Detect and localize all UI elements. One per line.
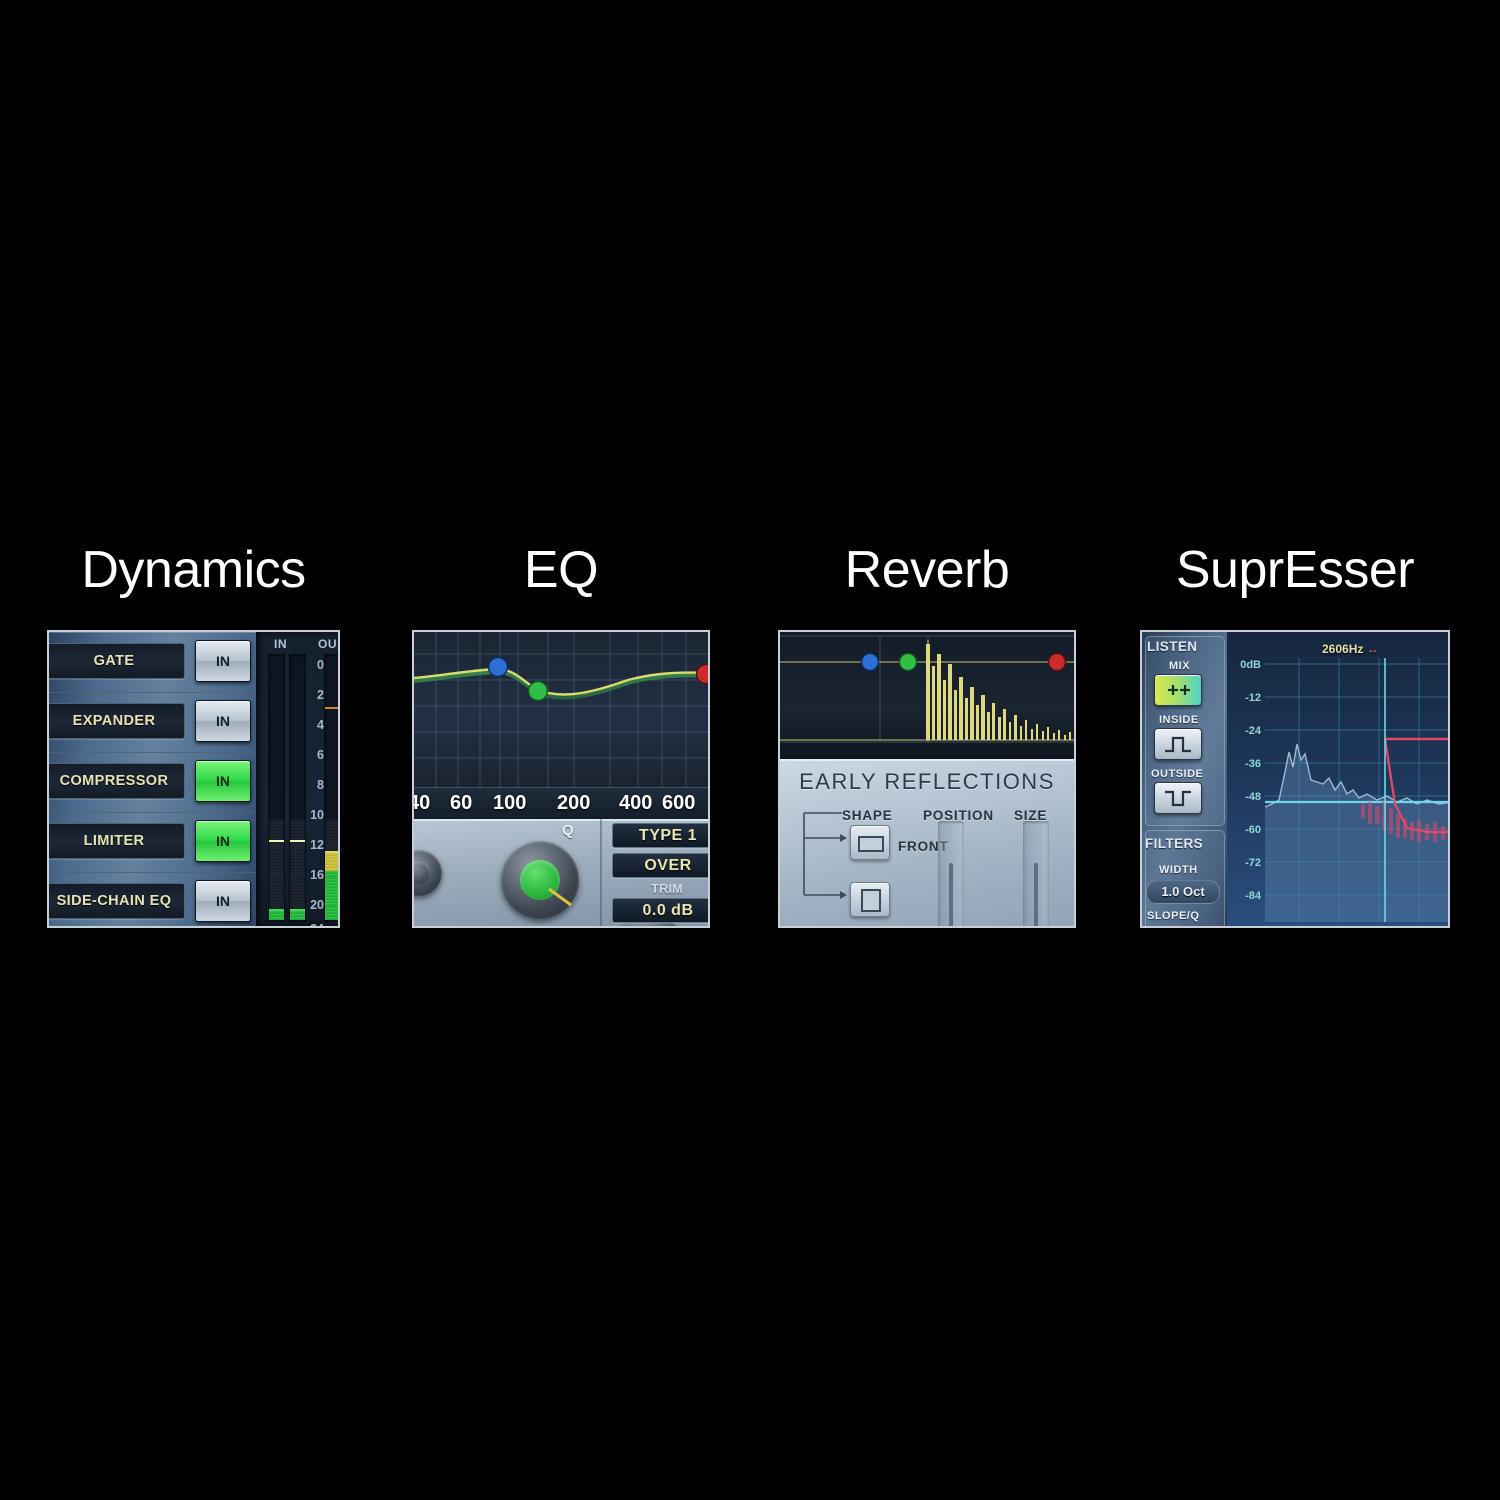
db-tick: -24 <box>1227 725 1261 737</box>
scale-tick: 2 <box>317 688 324 702</box>
in-button-label: IN <box>196 881 250 921</box>
dynamics-row-expander[interactable]: EXPANDER IN <box>49 692 256 753</box>
scale-tick: 0 <box>317 658 324 672</box>
module-label: COMPRESSOR <box>47 764 184 798</box>
frequency-readout[interactable]: 2606Hz ↔ <box>1322 642 1379 656</box>
inside-label: INSIDE <box>1159 714 1199 726</box>
width-label: WIDTH <box>1159 864 1198 876</box>
eq-trim-value-field[interactable]: 0.0 dB <box>612 898 710 923</box>
meter-column-out <box>324 654 340 922</box>
scale-tick: 10 <box>310 808 324 822</box>
shape-label: SHAPE <box>842 808 893 823</box>
eq-band-node-red <box>697 665 711 684</box>
scale-tick: 16 <box>310 868 324 882</box>
in-button-label: IN <box>196 701 250 741</box>
position-slider-handle[interactable] <box>949 863 953 928</box>
freq-tick: 200 <box>557 792 590 815</box>
square-icon <box>861 889 881 912</box>
frequency-value: 2606Hz <box>1322 642 1363 656</box>
module-label: LIMITER <box>47 824 184 858</box>
db-tick: -48 <box>1227 791 1261 803</box>
module-name-side-chain-eq: SIDE-CHAIN EQ <box>47 883 185 919</box>
shape-button-wide[interactable] <box>850 825 890 860</box>
in-button-expander[interactable]: IN <box>195 700 251 742</box>
panel-title-reverb: Reverb <box>778 540 1076 600</box>
eq-band-node-blue <box>489 658 508 677</box>
eq-over-label: OVER <box>613 854 710 877</box>
eq-section-divider <box>600 819 602 928</box>
peak-hold-out <box>325 707 340 709</box>
left-right-arrow-icon: ↔ <box>1367 642 1379 656</box>
freq-tick: 400 <box>619 792 652 815</box>
module-name-expander: EXPANDER <box>47 703 185 739</box>
peak-hold-in-left <box>269 840 284 842</box>
dynamics-panel[interactable]: GATE IN EXPANDER IN COMPRESSOR IN LIMITE… <box>47 630 340 928</box>
supresser-panel[interactable]: LISTEN MIX INSIDE OUTSIDE <box>1140 630 1450 928</box>
listen-inside-button[interactable] <box>1154 728 1202 760</box>
freq-tick: 60 <box>450 792 472 815</box>
width-value: 1.0 Oct <box>1147 881 1219 903</box>
eq-knob-q[interactable] <box>501 841 579 919</box>
freq-tick: 100 <box>493 792 526 815</box>
dynamics-row-side-chain-eq[interactable]: SIDE-CHAIN EQ IN <box>49 872 256 928</box>
freq-tick: 600 <box>662 792 695 815</box>
shape-button-square[interactable] <box>850 882 890 917</box>
meter-column-in-left <box>268 654 285 922</box>
eq-band-node-green <box>529 682 548 701</box>
scale-tick: 12 <box>310 838 324 852</box>
knob-pointer <box>501 841 579 919</box>
dynamics-row-limiter[interactable]: LIMITER IN <box>49 812 256 873</box>
eq-over-button[interactable]: OVER <box>612 853 710 878</box>
eq-curve-svg <box>414 632 710 787</box>
db-tick: -60 <box>1227 824 1261 836</box>
supresser-spectrum-svg <box>1227 632 1450 926</box>
db-tick: -84 <box>1227 890 1261 902</box>
meter-header-in: IN <box>274 637 287 651</box>
module-label: GATE <box>47 644 184 678</box>
shape-connector-lines <box>798 809 848 919</box>
position-slider[interactable] <box>938 821 964 928</box>
outside-pulse-icon <box>1155 783 1201 813</box>
filters-group-title: FILTERS <box>1145 836 1203 851</box>
scale-tick: 24 <box>310 922 324 928</box>
reverb-panel[interactable]: EARLY REFLECTIONS SHAPE POSITION SIZE FR… <box>778 630 1076 928</box>
scale-tick: 8 <box>317 778 324 792</box>
panel-title-supresser: SuprEsser <box>1140 540 1450 600</box>
db-tick: 0dB <box>1227 659 1261 671</box>
supresser-spectrum-graph[interactable]: 2606Hz ↔ 0dB -12 -24 -36 -48 -60 -72 -84 <box>1227 632 1450 926</box>
listen-outside-button[interactable] <box>1154 782 1202 814</box>
meter-header-out: OU <box>318 637 337 651</box>
reverb-node-blue <box>862 654 879 671</box>
panel-title-dynamics: Dynamics <box>47 540 340 600</box>
in-button-side-chain-eq[interactable]: IN <box>195 880 251 922</box>
in-button-limiter[interactable]: IN <box>195 820 251 862</box>
inside-pulse-icon <box>1155 729 1201 759</box>
peak-hold-in-right <box>290 840 305 842</box>
knob-cap <box>412 861 431 885</box>
in-button-compressor[interactable]: IN <box>195 760 251 802</box>
dynamics-row-compressor[interactable]: COMPRESSOR IN <box>49 752 256 813</box>
size-slider-handle[interactable] <box>1034 863 1038 928</box>
in-button-gate[interactable]: IN <box>195 640 251 682</box>
listen-group-title: LISTEN <box>1147 639 1197 654</box>
eq-response-graph[interactable] <box>414 632 708 787</box>
slope-q-label: SLOPE/Q <box>1147 910 1199 922</box>
in-button-label: IN <box>196 641 250 681</box>
eq-trim-value: 0.0 dB <box>613 899 710 922</box>
db-tick: -12 <box>1227 692 1261 704</box>
eq-frequency-axis: 40 60 100 200 400 600 <box>414 787 708 820</box>
dynamics-row-gate[interactable]: GATE IN <box>49 632 256 693</box>
screenshot-root: Dynamics EQ Reverb SuprEsser GATE IN EXP… <box>0 0 1500 1500</box>
q-label: Q <box>562 822 574 839</box>
early-reflections-section: EARLY REFLECTIONS SHAPE POSITION SIZE FR… <box>780 759 1074 928</box>
mix-label: MIX <box>1169 660 1190 672</box>
wide-rect-icon <box>858 836 884 852</box>
freq-tick: 40 <box>412 792 430 815</box>
module-label: EXPANDER <box>47 704 184 738</box>
module-name-gate: GATE <box>47 643 185 679</box>
in-button-label: IN <box>196 821 250 861</box>
module-name-compressor: COMPRESSOR <box>47 763 185 799</box>
listen-mix-button[interactable] <box>1154 674 1202 706</box>
early-reflections-heading: EARLY REFLECTIONS <box>780 769 1074 795</box>
dynamics-meter-bridge: IN OU 0 2 4 6 8 10 12 16 20 24 <box>256 632 340 926</box>
meter-segment <box>269 819 284 824</box>
reverb-node-green <box>900 654 917 671</box>
scale-tick: 20 <box>310 898 324 912</box>
db-tick: -36 <box>1227 758 1261 770</box>
eq-panel[interactable]: 40 60 100 200 400 600 Q TYPE 1 OVER T <box>412 630 710 928</box>
panel-title-eq: EQ <box>412 540 710 600</box>
module-label: SIDE-CHAIN EQ <box>47 884 184 918</box>
reverb-impulse-graph[interactable] <box>780 632 1074 759</box>
eq-type-button[interactable]: TYPE 1 <box>612 823 710 848</box>
scale-tick: 4 <box>317 718 324 732</box>
reverb-impulse-svg <box>780 632 1076 759</box>
meter-segment <box>325 819 340 824</box>
dynamics-module-list: GATE IN EXPANDER IN COMPRESSOR IN LIMITE… <box>49 632 256 926</box>
db-tick: -72 <box>1227 857 1261 869</box>
outside-label: OUTSIDE <box>1151 768 1203 780</box>
supresser-controls-column: LISTEN MIX INSIDE OUTSIDE <box>1142 632 1227 926</box>
in-button-label: IN <box>196 761 250 801</box>
reverb-node-red <box>1049 654 1066 671</box>
width-value-field[interactable]: 1.0 Oct <box>1146 880 1220 904</box>
eq-trim-label: TRIM <box>612 881 710 896</box>
size-slider[interactable] <box>1023 821 1049 928</box>
meter-scale: 0 2 4 6 8 10 12 16 20 24 <box>302 654 324 922</box>
module-name-limiter: LIMITER <box>47 823 185 859</box>
eq-type-label: TYPE 1 <box>613 824 710 847</box>
scale-tick: 6 <box>317 748 324 762</box>
plus-plus-icon <box>1155 675 1201 705</box>
